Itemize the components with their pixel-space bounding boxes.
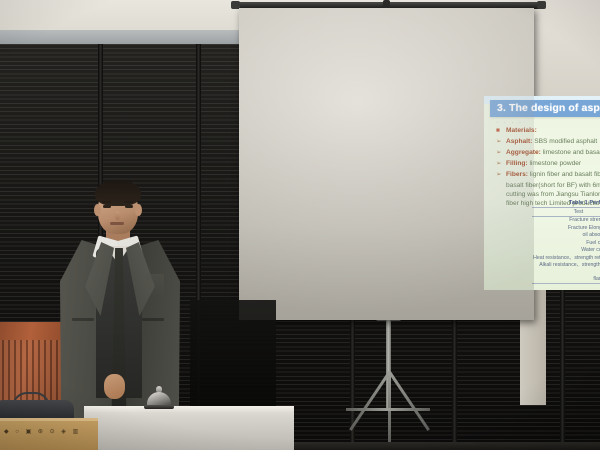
arrow-bullet-icon: ➢: [496, 148, 506, 157]
list-item: ➢ Asphalt: SBS modified asphalt: [496, 137, 600, 146]
list-item: ■ Materials:: [496, 126, 600, 135]
table-row: Fracture Elongation /% ≤3.1 2.71: [532, 224, 600, 232]
coat-pocket: [72, 318, 94, 321]
table-row: Fracture strength/MPa ≥1200 2218: [532, 216, 600, 224]
table-row: Heat resistance、strength retained /% ≥85…: [532, 254, 600, 262]
table-caption: Table 1 Performance indexes and test res…: [532, 200, 600, 206]
eye: [125, 205, 133, 208]
bullet-text: limestone powder: [529, 160, 581, 167]
presentation-photo: 3. The design of asphalt mixture · · · ·…: [0, 0, 600, 450]
cell: Water content /%: [532, 247, 600, 255]
white-table: [84, 406, 294, 450]
slide: 3. The design of asphalt mixture · · · ·…: [484, 96, 600, 290]
bullet-key: Fibers:: [506, 171, 528, 178]
mouth: [110, 222, 124, 225]
results-table: Table 1 Performance indexes and test res…: [532, 200, 600, 284]
cell: flammability: [532, 276, 600, 284]
column-header: Test: [532, 208, 600, 217]
background-shadow: [190, 300, 276, 410]
cell: oil absorption /%: [532, 232, 600, 240]
bullet-text: lignin fiber and basalt fiber. Besides,: [530, 171, 600, 178]
screen-rail-end: [537, 1, 546, 9]
bell-base: [144, 405, 174, 409]
table-row: Fuel content/% 0.1~1.0 0.4: [532, 239, 600, 247]
slide-title-bar: 3. The design of asphalt mixture: [490, 100, 600, 117]
list-item: ➢ Fibers: lignin fiber and basalt fiber.…: [496, 170, 600, 179]
table-row: Alkali resistance、strength retained /% ≥…: [532, 262, 600, 276]
projector-screen: 3. The design of asphalt mixture · · · ·…: [239, 8, 534, 320]
cell: Alkali resistance、strength retained /%: [532, 262, 600, 276]
box-top-edge: [0, 418, 98, 421]
tripod-leg: [388, 372, 391, 442]
ear: [94, 204, 101, 216]
bullet-text: SBS modified asphalt: [534, 138, 597, 145]
table-top-edge: [84, 406, 294, 412]
nose: [115, 211, 120, 220]
arrow-bullet-icon: ➢: [496, 137, 506, 146]
bullet-key: Aggregate:: [506, 149, 541, 156]
cell: Fuel content/%: [532, 239, 600, 247]
tripod-crossbar: [346, 408, 430, 411]
bullet-key: Filling:: [506, 160, 528, 167]
list-item: ➢ Filling: limestone powder: [496, 159, 600, 168]
bullet-key: Materials:: [506, 127, 537, 134]
eyebrow: [124, 201, 133, 203]
arrow-bullet-icon: ➢: [496, 170, 506, 179]
table-row: Water content /% ≤0.2 0.13: [532, 247, 600, 255]
table-header-row: Test Standard results Test results: [532, 208, 600, 217]
bullet-continuation-line: basalt fiber(short for BF) with 6mm shor…: [506, 181, 600, 190]
eye: [103, 205, 111, 208]
arrow-bullet-icon: ➢: [496, 159, 506, 168]
table-row: flammability non-combustible non-combust…: [532, 276, 600, 284]
slide-title: 3. The design of asphalt mixture: [497, 102, 600, 114]
list-item: ➢ Aggregate: limestone and basalt: [496, 148, 600, 157]
cell: Fracture Elongation /%: [532, 224, 600, 232]
hand: [104, 374, 125, 399]
table-row: oil absorption /% ≥50 52: [532, 232, 600, 240]
bullet-key: Asphalt:: [506, 138, 532, 145]
ear: [135, 204, 142, 216]
eyebrow: [102, 201, 111, 203]
cell: Fracture strength/MPa: [532, 216, 600, 224]
bullet-text: limestone and basalt: [543, 149, 600, 156]
bullet-list: ■ Materials: ➢ Asphalt: SBS modified asp…: [496, 126, 600, 208]
box-printed-icons: ◆ ○ ▣ ⊛ ⊙ ◈ ▥: [4, 428, 81, 435]
cell: Heat resistance、strength retained /%: [532, 254, 600, 262]
coat-chest-pocket: [146, 274, 164, 296]
square-bullet-icon: ■: [496, 126, 506, 135]
bullet-continuation-line: cutting was from Jiangsu Tianlong basalt: [506, 190, 600, 199]
coat-pocket: [142, 318, 164, 321]
